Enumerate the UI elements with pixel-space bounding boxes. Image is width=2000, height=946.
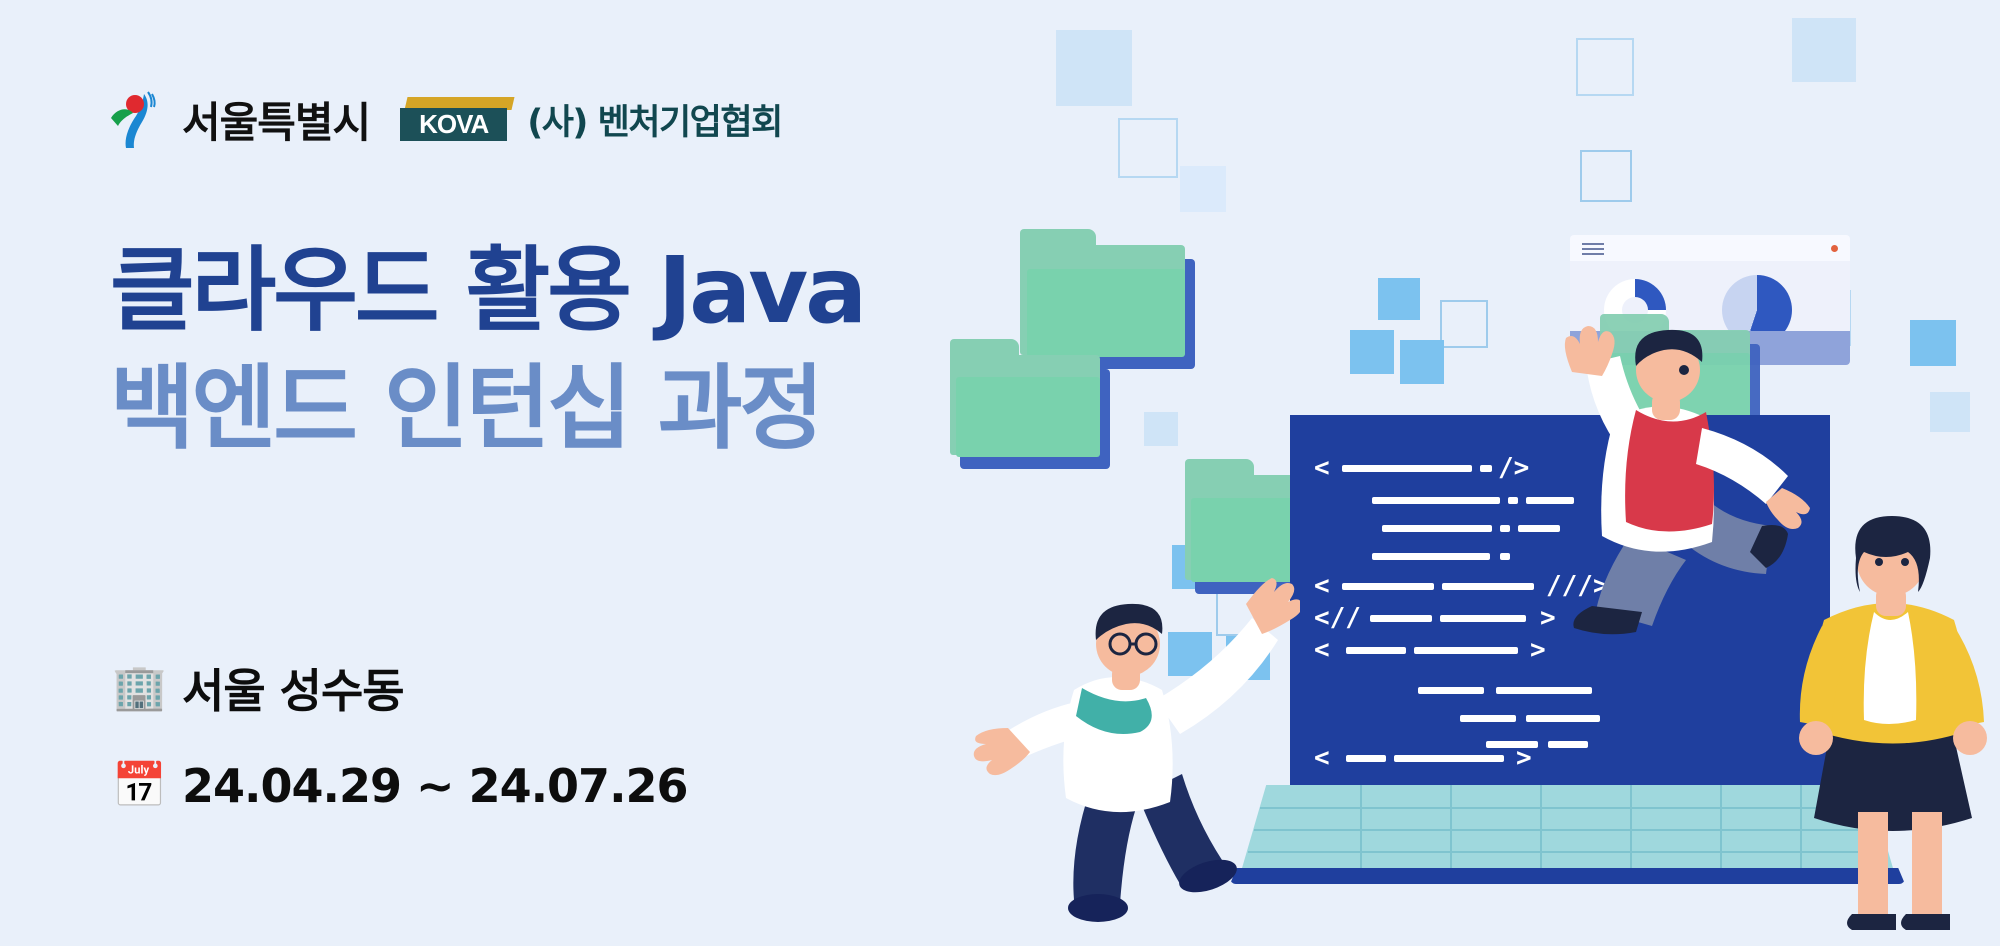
info-list: 🏢 서울 성수동 📅 24.04.29 ~ 24.07.26 (112, 655, 688, 813)
keyboard-col (1720, 785, 1722, 875)
code-line (1418, 687, 1484, 694)
kova-association-label: (사) 벤처기업협회 (527, 94, 782, 145)
keyboard-col (1360, 785, 1362, 875)
office-building-icon: 🏢 (112, 666, 160, 710)
kova-logo-group: KOVA (사) 벤처기업협회 (400, 94, 782, 145)
date-range-text: 24.04.29 ~ 24.07.26 (182, 759, 688, 813)
developers-laptop-illustration: < /> < ///> <// > < > (1080, 0, 2000, 946)
kova-teal-box: KOVA (400, 108, 507, 141)
code-bracket: <// (1314, 605, 1361, 631)
code-line (1496, 687, 1592, 694)
menu-icon (1582, 243, 1604, 245)
code-line (1382, 525, 1492, 532)
dashboard-titlebar (1570, 235, 1850, 261)
code-line (1414, 647, 1518, 654)
close-icon (1831, 245, 1838, 252)
code-line (1460, 715, 1516, 722)
code-bracket: < (1314, 573, 1330, 599)
folder-tab (1020, 229, 1096, 249)
code-line (1346, 647, 1406, 654)
info-row-location: 🏢 서울 성수동 (112, 655, 688, 721)
keyboard-col (1540, 785, 1542, 875)
code-line (1372, 553, 1490, 560)
info-row-date: 📅 24.04.29 ~ 24.07.26 (112, 759, 688, 813)
person-right (1780, 500, 2000, 920)
folder-tab (950, 339, 1019, 359)
folder-icon (950, 355, 1100, 455)
location-text: 서울 성수동 (182, 655, 404, 721)
code-line (1372, 497, 1500, 504)
folder-icon (1020, 245, 1185, 355)
code-bracket: < (1314, 637, 1330, 663)
seoul-city-label: 서울특별시 (182, 89, 370, 150)
code-line (1394, 755, 1504, 762)
code-line (1480, 465, 1492, 472)
keyboard-col (1450, 785, 1452, 875)
code-line (1548, 741, 1588, 748)
calendar-icon: 📅 (112, 764, 160, 808)
folder-tab (1185, 459, 1254, 479)
code-line (1346, 755, 1386, 762)
code-line (1342, 465, 1472, 472)
folder-front (1027, 269, 1185, 357)
folder-front (956, 377, 1100, 457)
code-line (1370, 615, 1432, 622)
keyboard-col (1630, 785, 1632, 875)
seoul-city-logo: 서울특별시 (108, 88, 370, 150)
kova-wordmark: KOVA (419, 109, 488, 140)
code-bracket: < (1314, 745, 1330, 771)
person-left (970, 560, 1290, 920)
code-line (1526, 715, 1600, 722)
headline-line-2: 백엔드 인턴십 과정 (110, 350, 864, 468)
code-line (1500, 525, 1510, 532)
logo-row: 서울특별시 KOVA (사) 벤처기업협회 (108, 88, 782, 150)
kova-mark-icon: KOVA (400, 97, 513, 141)
code-bracket: < (1314, 455, 1330, 481)
headline-line-1: 클라우드 활용 Java (110, 232, 864, 350)
promo-banner: 서울특별시 KOVA (사) 벤처기업협회 클라우드 활용 Java 백엔드 인… (0, 0, 2000, 946)
seoul-symbol-icon (108, 88, 170, 150)
headline: 클라우드 활용 Java 백엔드 인턴십 과정 (110, 232, 864, 468)
code-line (1342, 583, 1434, 590)
code-bracket: > (1516, 745, 1532, 771)
code-line (1500, 553, 1510, 560)
